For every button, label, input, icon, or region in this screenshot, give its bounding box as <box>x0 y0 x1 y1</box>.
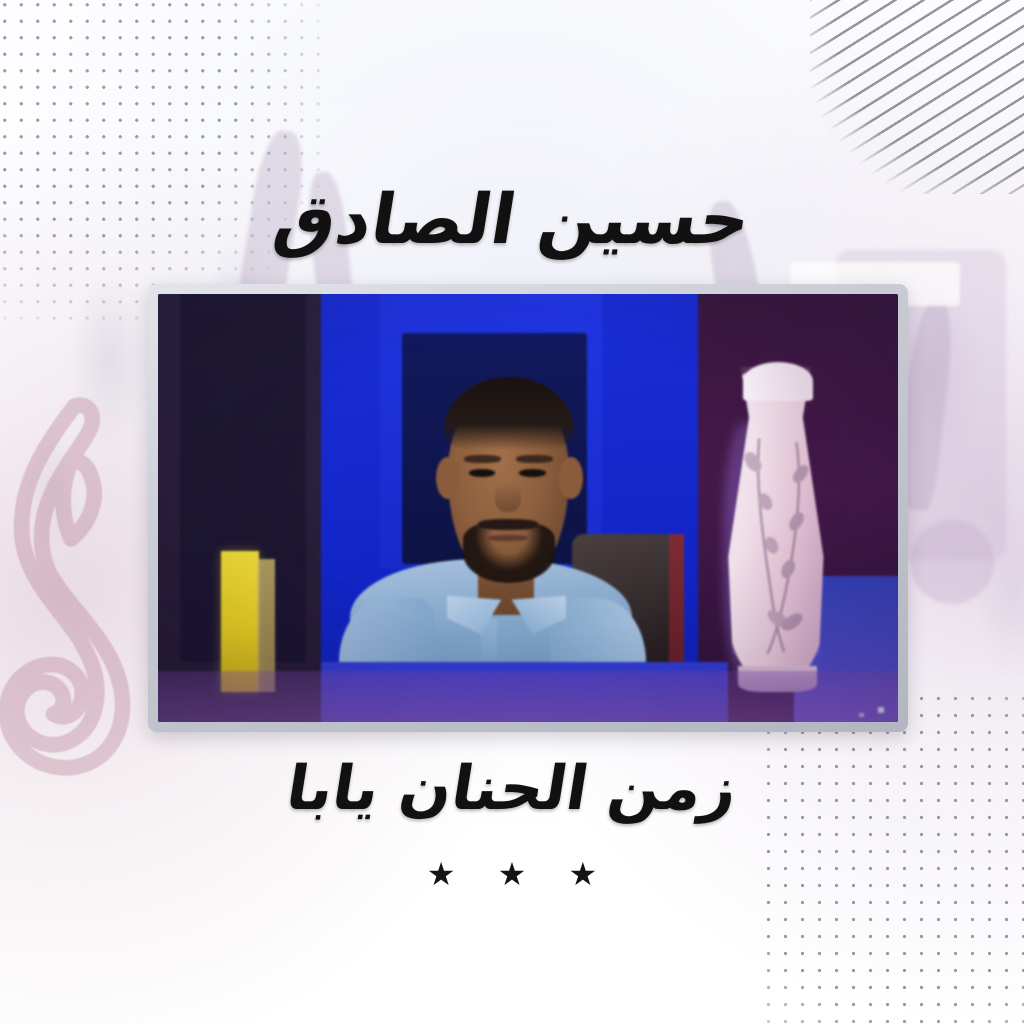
track-title: زمن الحنان يابا <box>0 758 1024 819</box>
scene-vase-floral-pattern <box>724 367 828 684</box>
still-artifact-pixel-b <box>859 713 864 717</box>
subject-beard <box>463 523 555 583</box>
subject-moustache <box>478 519 539 530</box>
dot-grid-pattern-top-left <box>0 0 320 320</box>
subject-eye-right <box>519 469 546 476</box>
subject-nose <box>495 482 520 512</box>
video-still-frame[interactable] <box>148 284 908 732</box>
artist-name-title: حسين الصادق <box>0 186 1024 255</box>
subject-lips <box>488 535 528 542</box>
cover-canvas: حسين الصادق <box>0 0 1024 1024</box>
dot-circle-pattern-bottom-right <box>760 690 1024 1024</box>
still-artifact-pixel-a <box>878 707 884 713</box>
rating-stars: ★ ★ ★ <box>0 858 1024 890</box>
subject-ear-right <box>559 457 583 500</box>
video-still-image <box>158 294 898 722</box>
diagonal-stripe-arc-top-right <box>810 0 1024 194</box>
subject-ear-left <box>436 457 460 500</box>
ghost-circle-shape <box>910 520 994 604</box>
scene-bottom-glow <box>158 671 898 722</box>
subject-eyebrow-right <box>516 455 553 463</box>
subject-eye-left <box>469 469 496 476</box>
subject-eyebrow-left <box>464 455 501 463</box>
